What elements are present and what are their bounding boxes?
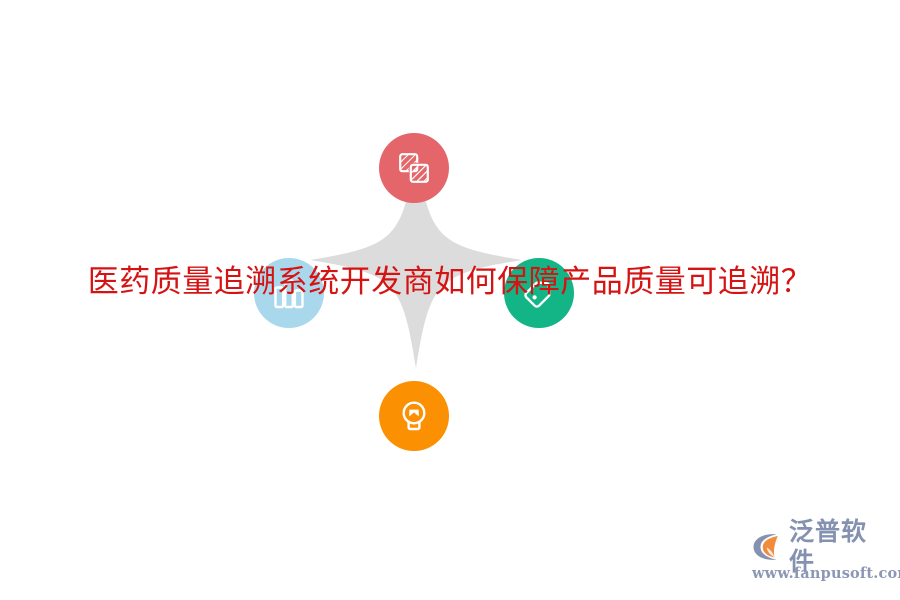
node-bottom-idea[interactable] bbox=[379, 381, 449, 451]
brand-url: www.fanpusoft.com bbox=[752, 565, 892, 582]
page-title: 医药质量追溯系统开发商如何保障产品质量可追溯？ bbox=[0, 259, 900, 305]
page-canvas: 医药质量追溯系统开发商如何保障产品质量可追溯？ 泛普软件 www.fanpuso… bbox=[0, 0, 900, 600]
brand-watermark: 泛普软件 www.fanpusoft.com bbox=[752, 530, 892, 592]
lightbulb-icon bbox=[397, 399, 431, 433]
fanpu-logo-icon bbox=[752, 532, 784, 562]
copy-layers-icon bbox=[397, 151, 431, 185]
node-top-copy[interactable] bbox=[379, 133, 449, 203]
